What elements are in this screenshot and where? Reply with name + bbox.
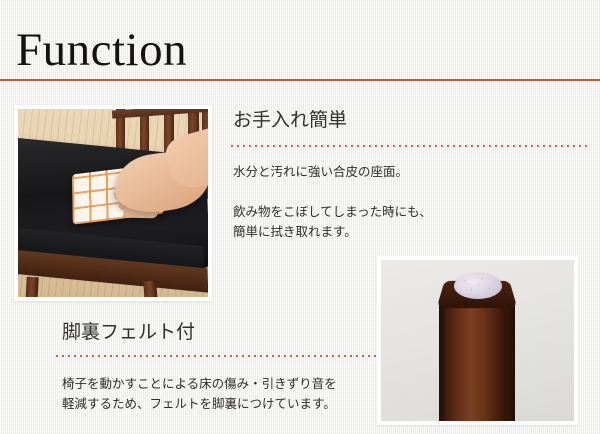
chair-leg	[143, 281, 158, 297]
photo-leg-felt-image	[381, 260, 574, 421]
feature-body-line: 飲み物をこぼしてしまった時にも、	[233, 202, 432, 222]
feature-body-block: 椅子を動かすことによる床の傷み・引きずり音を 軽減するため、フェルトを脚裏につけ…	[62, 374, 337, 414]
feature-heading-leg-felt: 脚裏フェルト付	[62, 320, 195, 346]
felt-pad-texture	[454, 273, 502, 299]
chair-leg	[25, 277, 38, 297]
feature-divider-easy-care	[231, 145, 591, 147]
title-divider	[0, 79, 600, 81]
photo-leg-felt	[377, 256, 578, 425]
feature-divider-leg-felt	[56, 355, 378, 357]
chair-leg-body	[445, 290, 507, 421]
feature-body-line: 軽減するため、フェルトを脚裏につけています。	[62, 394, 337, 414]
feature-body-line: 椅子を動かすことによる床の傷み・引きずり音を	[62, 374, 337, 394]
function-feature-page: Function お手入れ簡単 水分と汚れに強い合皮の座面。	[0, 0, 600, 434]
feature-body-line: 簡単に拭き取れます。	[233, 222, 432, 242]
photo-seat-wipe	[14, 105, 212, 301]
feature-body-block: 飲み物をこぼしてしまった時にも、 簡単に拭き取れます。	[233, 202, 432, 242]
page-title: Function	[16, 22, 187, 78]
felt-pad	[454, 273, 502, 299]
photo-seat-wipe-image	[18, 109, 208, 297]
feature-heading-easy-care: お手入れ簡単	[233, 108, 347, 134]
feature-body-line: 水分と汚れに強い合皮の座面。	[233, 162, 408, 182]
